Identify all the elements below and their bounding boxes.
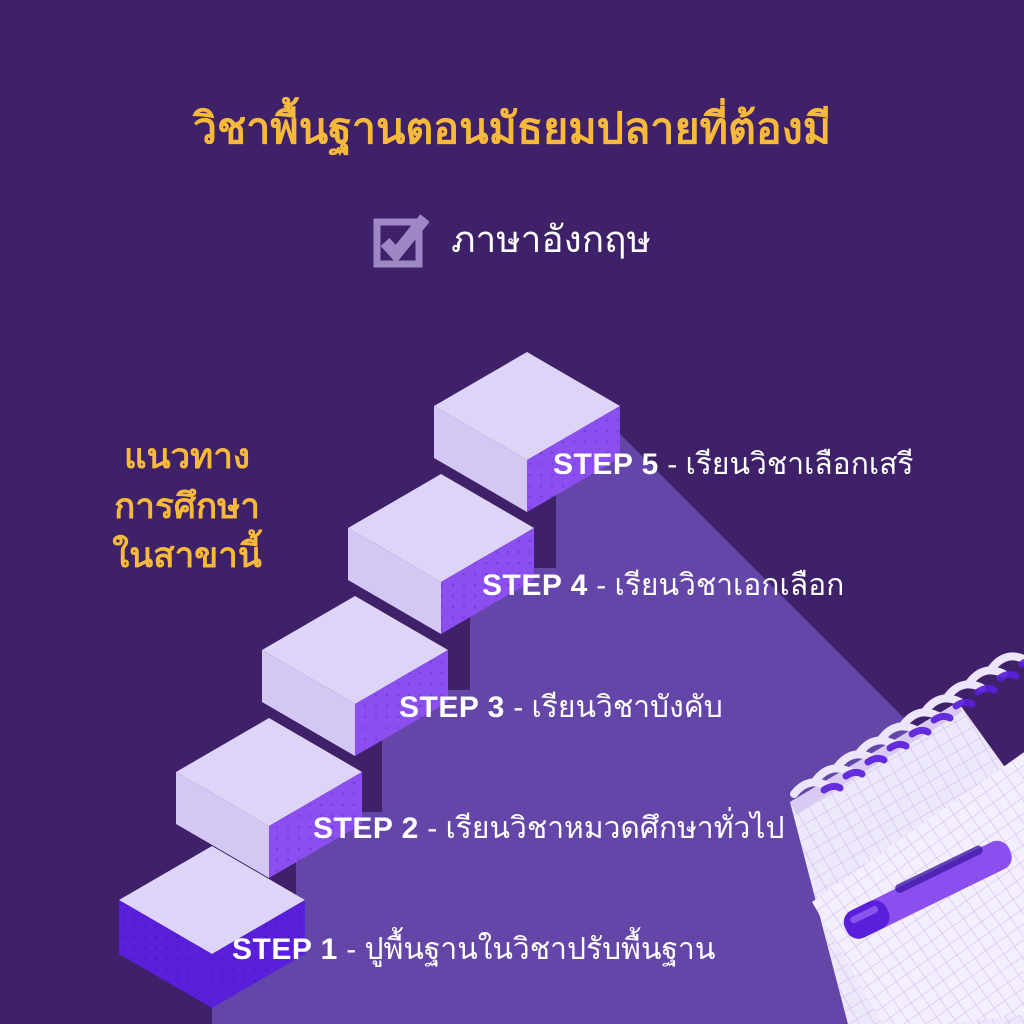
step-1-number: STEP 1 xyxy=(232,933,338,966)
step-label-1: STEP 1 - ปูพื้นฐานในวิชาปรับพื้นฐาน xyxy=(232,935,715,965)
step-label-5: STEP 5 - เรียนวิชาเลือกเสรี xyxy=(553,450,914,480)
step-2-text: เรียนวิชาหมวดศึกษาทั่วไป xyxy=(446,812,785,845)
step-4-number: STEP 4 xyxy=(482,569,588,602)
step-label-3: STEP 3 - เรียนวิชาบังคับ xyxy=(399,693,723,723)
left-heading: แนวทาง การศึกษา ในสาขานี้ xyxy=(72,432,302,581)
infographic-canvas: วิชาพื้นฐานตอนมัธยมปลายที่ต้องมี ภาษาอัง… xyxy=(0,0,1024,1024)
step-1-text: ปูพื้นฐานในวิชาปรับพื้นฐาน xyxy=(365,933,716,966)
step-2-dash: - xyxy=(427,812,437,845)
notebook-photo xyxy=(780,502,1024,1024)
step-3-number: STEP 3 xyxy=(399,691,505,724)
left-heading-line-2: การศึกษา xyxy=(72,482,302,532)
step-2-number: STEP 2 xyxy=(313,812,419,845)
step-5-text: เรียนวิชาเลือกเสรี xyxy=(686,448,914,481)
step-5-number: STEP 5 xyxy=(553,448,659,481)
step-5-dash: - xyxy=(667,448,677,481)
step-3-text: เรียนวิชาบังคับ xyxy=(532,691,723,724)
left-heading-line-3: ในสาขานี้ xyxy=(72,531,302,581)
page-title: วิชาพื้นฐานตอนมัธยมปลายที่ต้องมี xyxy=(0,104,1024,156)
subject-row: ภาษาอังกฤษ xyxy=(0,212,1024,268)
step-1-dash: - xyxy=(346,933,356,966)
step-label-2: STEP 2 - เรียนวิชาหมวดศึกษาทั่วไป xyxy=(313,814,785,844)
left-heading-line-1: แนวทาง xyxy=(72,432,302,482)
step-3-dash: - xyxy=(513,691,523,724)
subject-label: ภาษาอังกฤษ xyxy=(451,220,651,261)
checkbox-checked-icon xyxy=(373,212,429,268)
step-4-dash: - xyxy=(596,569,606,602)
